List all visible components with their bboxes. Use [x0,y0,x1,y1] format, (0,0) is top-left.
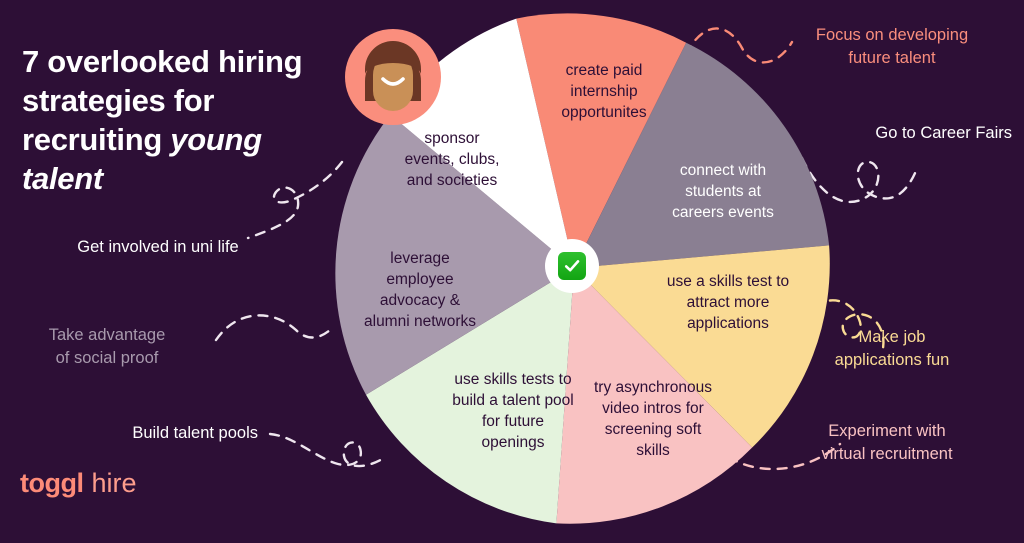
title-line-3-prefix: recruiting [22,122,170,157]
toggl-hire-logo[interactable]: toggl hire [20,468,137,499]
annotation-go-to-career-fairs: Go to Career Fairs [762,122,1012,145]
annotation-experiment-virtual-recruitment: Experiment with virtual recruitment [762,420,1012,466]
title-line-2: strategies for [22,83,214,118]
infographic-canvas: 7 overlooked hiring strategies for recru… [0,0,1024,543]
annotation-build-talent-pools: Build talent pools [20,422,258,445]
title-line-4-italic: talent [22,161,103,196]
page-title: 7 overlooked hiring strategies for recru… [22,42,342,198]
title-line-3-italic: young [170,122,262,157]
green-check-icon [558,252,586,280]
logo-hire-wordmark: hire [91,468,136,499]
annotation-take-advantage-social-proof: Take advantage of social proof [14,324,200,370]
annotation-get-involved-uni-life: Get involved in uni life [40,236,276,259]
annotation-focus-future-talent: Focus on developing future talent [772,24,1012,70]
center-badge [545,239,599,293]
logo-toggl-wordmark: toggl [20,468,83,499]
title-line-1: 7 overlooked hiring [22,44,302,79]
annotation-make-applications-fun: Make job applications fun [772,326,1012,372]
avatar [345,29,441,125]
